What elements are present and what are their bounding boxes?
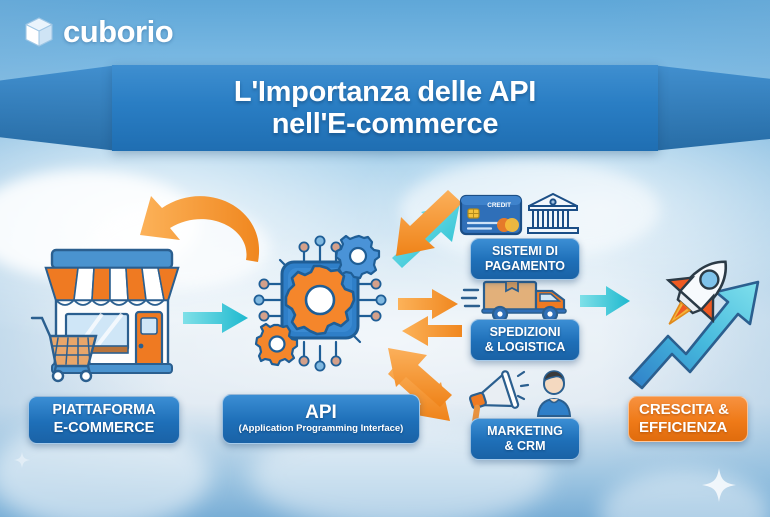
credit-card-bank-icon: CREDIT xyxy=(459,190,581,238)
node-label-api[interactable]: API (Application Programming Interface) xyxy=(222,394,420,444)
growth-label-line2: EFFICIENZA xyxy=(639,419,727,437)
megaphone-customer-icon xyxy=(466,368,578,418)
arrow-shipping-to-api xyxy=(402,316,462,346)
arrow-api-to-shipping xyxy=(398,289,458,319)
api-label-line2: (Application Programming Interface) xyxy=(239,423,404,435)
marketing-label-line1: MARKETING xyxy=(487,424,563,439)
api-label-line1: API xyxy=(305,403,337,423)
shipping-label-line2: & LOGISTICA xyxy=(485,340,566,355)
payments-label-line2: PAGAMENTO xyxy=(485,259,565,274)
node-label-growth[interactable]: CRESCITA & EFFICIENZA xyxy=(628,396,748,442)
marketing-label-line2: & CRM xyxy=(505,439,546,454)
svg-text:CREDIT: CREDIT xyxy=(487,202,511,209)
credit-card-icon: CREDIT xyxy=(461,196,521,234)
platform-label-line1: PIATTAFORMA xyxy=(52,402,155,420)
node-label-platform[interactable]: PIATTAFORMA E-COMMERCE xyxy=(28,396,180,444)
payments-label-line1: SISTEMI DI xyxy=(492,244,558,259)
customer-avatar-icon xyxy=(538,371,570,416)
storefront-icon xyxy=(30,242,192,382)
api-chip-gears-icon xyxy=(252,232,388,372)
delivery-truck-icon xyxy=(462,278,578,322)
arrow-platform-to-api xyxy=(183,303,248,333)
rocket-growth-arrow-icon xyxy=(624,244,766,392)
arrow-shipping-to-growth xyxy=(580,286,630,316)
infographic-canvas: cuborio L'Importanza delle API nell'E-co… xyxy=(0,0,770,517)
megaphone-icon xyxy=(463,371,518,421)
platform-label-line2: E-COMMERCE xyxy=(54,420,155,438)
node-label-payments[interactable]: SISTEMI DI PAGAMENTO xyxy=(470,238,580,280)
growth-label-line1: CRESCITA & xyxy=(639,401,729,419)
node-label-marketing[interactable]: MARKETING & CRM xyxy=(470,418,580,460)
shipping-label-line1: SPEDIZIONI xyxy=(490,325,561,340)
bank-icon xyxy=(528,194,578,233)
node-label-shipping[interactable]: SPEDIZIONI & LOGISTICA xyxy=(470,319,580,361)
